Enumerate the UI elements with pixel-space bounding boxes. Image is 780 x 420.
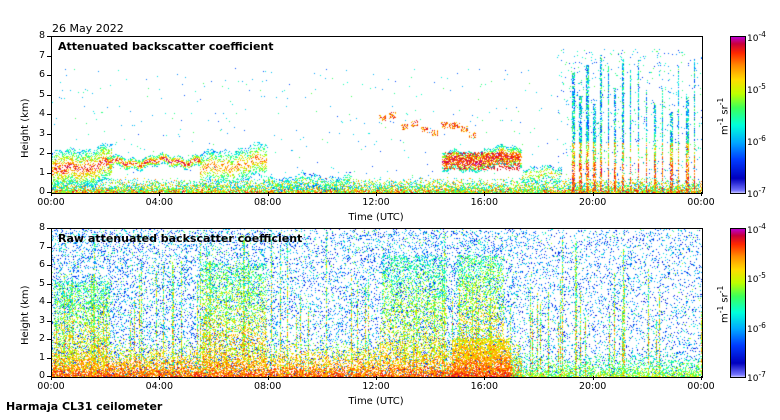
x-tickmark-top-0 [51, 192, 52, 196]
y-tick-label-top-8: 8 [17, 30, 45, 41]
x-tick-label-bottom-5: 20:00 [571, 381, 615, 392]
colorbar-tick-top-1: 10-5 [747, 82, 766, 96]
y-tickmark-top-2 [47, 153, 51, 154]
panel-title-top: Attenuated backscatter coefficient [58, 40, 274, 53]
y-tickmark-bottom-2 [47, 339, 51, 340]
y-tick-label-top-6: 6 [17, 69, 45, 80]
x-axis-label-top: Time (UTC) [311, 212, 441, 223]
x-tickmark-bottom-4 [484, 376, 485, 380]
plot-area-bottom[interactable]: Raw attenuated backscatter coefficient [51, 228, 703, 378]
x-tick-label-top-5: 20:00 [571, 197, 615, 208]
colorbar-tick-bottom-2: 10-6 [747, 321, 766, 335]
x-tick-label-bottom-6: 00:00 [679, 381, 723, 392]
x-tickmark-bottom-3 [376, 376, 377, 380]
y-tickmark-top-5 [47, 95, 51, 96]
y-tick-label-top-1: 1 [17, 167, 45, 178]
x-tickmark-bottom-1 [159, 376, 160, 380]
y-tickmark-bottom-4 [47, 302, 51, 303]
y-tickmark-bottom-5 [47, 284, 51, 285]
y-tickmark-bottom-7 [47, 247, 51, 248]
x-tick-label-bottom-3: 12:00 [354, 381, 398, 392]
x-tick-label-top-4: 16:00 [462, 197, 506, 208]
y-tickmark-bottom-8 [47, 228, 51, 229]
y-tick-label-top-7: 7 [17, 50, 45, 61]
y-tick-label-bottom-3: 3 [17, 315, 45, 326]
colorbar-tick-top-0: 10-4 [747, 30, 766, 44]
date-label: 26 May 2022 [52, 22, 124, 35]
colorbar-label-bottom: m-1 sr-1 [716, 286, 730, 323]
x-tickmark-top-4 [484, 192, 485, 196]
x-tickmark-top-3 [376, 192, 377, 196]
y-tick-label-top-3: 3 [17, 128, 45, 139]
x-axis-label-bottom: Time (UTC) [311, 396, 441, 407]
y-tickmark-bottom-6 [47, 265, 51, 266]
colorbar-tick-bottom-1: 10-5 [747, 271, 766, 285]
y-tickmark-bottom-1 [47, 358, 51, 359]
y-tick-label-top-0: 0 [17, 186, 45, 197]
colorbar-gradient-top [731, 37, 745, 193]
panel-title-bottom: Raw attenuated backscatter coefficient [58, 232, 302, 245]
x-tickmark-top-5 [593, 192, 594, 196]
x-tick-label-bottom-4: 16:00 [462, 381, 506, 392]
x-tickmark-bottom-0 [51, 376, 52, 380]
x-tickmark-bottom-5 [593, 376, 594, 380]
instrument-label: Harmaja CL31 ceilometer [6, 400, 162, 413]
figure-root: 26 May 2022 Harmaja CL31 ceilometer Atte… [0, 0, 780, 420]
colorbar-tick-bottom-0: 10-4 [747, 222, 766, 236]
x-tick-label-bottom-0: 00:00 [29, 381, 73, 392]
y-tick-label-bottom-0: 0 [17, 370, 45, 381]
colorbar-bottom [730, 228, 746, 378]
y-tick-label-bottom-8: 8 [17, 222, 45, 233]
heatmap-canvas-top [52, 37, 702, 193]
plot-area-top[interactable]: Attenuated backscatter coefficient [51, 36, 703, 194]
x-tickmark-top-2 [268, 192, 269, 196]
x-tickmark-top-6 [701, 192, 702, 196]
x-tickmark-bottom-6 [701, 376, 702, 380]
y-tickmark-top-8 [47, 36, 51, 37]
y-tickmark-bottom-0 [47, 376, 51, 377]
x-tickmark-top-1 [159, 192, 160, 196]
colorbar-tick-top-3: 10-7 [747, 186, 766, 200]
y-tick-label-top-2: 2 [17, 147, 45, 158]
x-tick-label-top-1: 04:00 [137, 197, 181, 208]
y-tick-label-top-5: 5 [17, 89, 45, 100]
y-tick-label-bottom-7: 7 [17, 241, 45, 252]
y-tick-label-bottom-5: 5 [17, 278, 45, 289]
y-tick-label-top-4: 4 [17, 108, 45, 119]
x-tick-label-bottom-2: 08:00 [246, 381, 290, 392]
x-tickmark-bottom-2 [268, 376, 269, 380]
colorbar-label-top: m-1 sr-1 [716, 98, 730, 135]
y-tickmark-top-6 [47, 75, 51, 76]
x-tick-label-top-2: 08:00 [246, 197, 290, 208]
colorbar-gradient-bottom [731, 229, 745, 377]
y-tickmark-top-1 [47, 173, 51, 174]
y-tickmark-top-7 [47, 56, 51, 57]
colorbar-tick-top-2: 10-6 [747, 134, 766, 148]
x-tick-label-top-0: 00:00 [29, 197, 73, 208]
y-tick-label-bottom-6: 6 [17, 259, 45, 270]
y-tickmark-top-4 [47, 114, 51, 115]
y-tickmark-top-0 [47, 192, 51, 193]
y-tick-label-bottom-2: 2 [17, 333, 45, 344]
x-tick-label-top-6: 00:00 [679, 197, 723, 208]
colorbar-top [730, 36, 746, 194]
heatmap-canvas-bottom [52, 229, 702, 377]
x-tick-label-bottom-1: 04:00 [137, 381, 181, 392]
y-tick-label-bottom-4: 4 [17, 296, 45, 307]
y-tick-label-bottom-1: 1 [17, 352, 45, 363]
y-tickmark-bottom-3 [47, 321, 51, 322]
y-tickmark-top-3 [47, 134, 51, 135]
colorbar-tick-bottom-3: 10-7 [747, 370, 766, 384]
x-tick-label-top-3: 12:00 [354, 197, 398, 208]
